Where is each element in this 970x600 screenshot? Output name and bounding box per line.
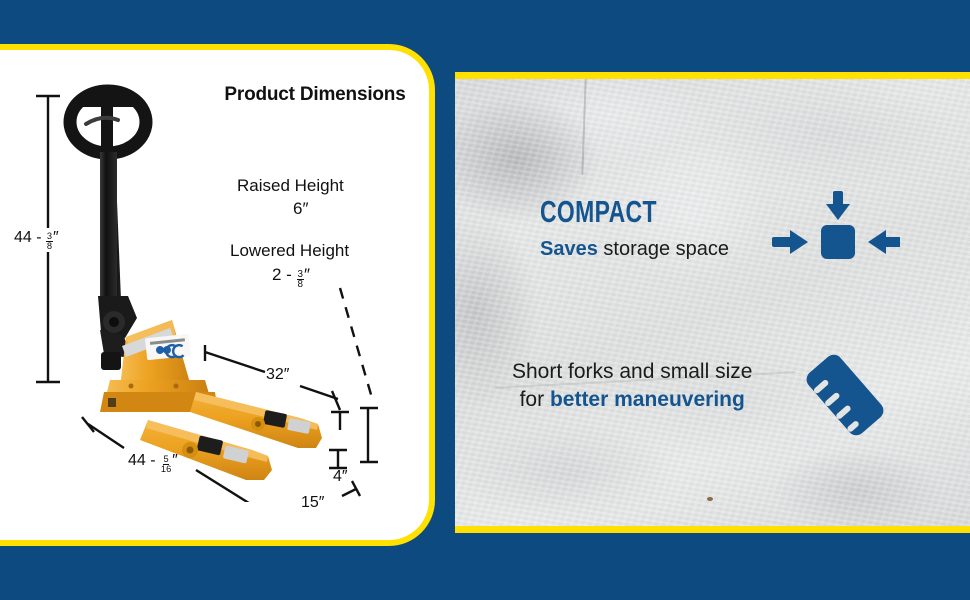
- dimension-label-fork-width: 15″: [301, 494, 324, 512]
- lowered-height-int: 2 -: [272, 265, 297, 284]
- raised-height-value: 6″: [293, 199, 308, 218]
- feature-maneuvering-line2-rest: for: [520, 388, 550, 411]
- lowered-height-unit: ″: [304, 265, 310, 284]
- ruler-icon: [795, 345, 895, 445]
- compact-arrows-icon: [770, 190, 900, 290]
- infographic-canvas: COMPACT Saves storage space: [0, 0, 970, 600]
- dimension-label-overall-length: 44 - 516″: [128, 452, 178, 473]
- feature-compact-sub-bold: Saves: [540, 238, 598, 260]
- callout-raised-height: Raised Height: [237, 176, 344, 196]
- overall-height-den: 8: [46, 242, 53, 251]
- lowered-height-den: 8: [297, 280, 304, 289]
- concrete-speck: [707, 497, 713, 501]
- dimension-label-fork-length: 32″: [266, 366, 289, 384]
- overall-height-int: 44 -: [14, 229, 46, 246]
- fork-width-value: 15″: [301, 494, 324, 511]
- overall-height-unit: ″: [53, 229, 59, 246]
- feature-compact-subtitle: Saves storage space: [540, 238, 729, 261]
- feature-compact-heading: COMPACT: [540, 196, 680, 227]
- feature-maneuvering-text: Short forks and small size for better ma…: [512, 358, 752, 413]
- feature-compact-sub-rest: storage space: [598, 238, 729, 260]
- dimension-label-fork-height: 4″: [333, 468, 348, 486]
- overall-length-unit: ″: [172, 452, 178, 469]
- feature-maneuvering-line2-bold: better maneuvering: [550, 388, 745, 411]
- feature-compact-text: COMPACT Saves storage space: [540, 196, 729, 261]
- overall-length-int: 44 -: [128, 452, 160, 469]
- raised-height-label: Raised Height: [237, 176, 344, 195]
- lowered-height-label: Lowered Height: [230, 241, 349, 260]
- concrete-background-panel: [455, 72, 970, 533]
- fork-height-value: 4″: [333, 468, 348, 485]
- callout-lowered-height-value: 2 - 38″: [272, 265, 310, 289]
- callout-raised-height-value: 6″: [293, 199, 308, 219]
- fork-length-value: 32″: [266, 366, 289, 383]
- page-title: Product Dimensions: [190, 84, 440, 106]
- dimension-label-overall-height: 44 - 38″: [14, 229, 59, 250]
- feature-maneuvering-line1: Short forks and small size: [512, 358, 752, 386]
- callout-lowered-height: Lowered Height: [230, 241, 349, 261]
- overall-length-den: 16: [160, 465, 172, 474]
- concrete-grain: [455, 79, 970, 526]
- feature-maneuvering-line2: for better maneuvering: [512, 386, 752, 414]
